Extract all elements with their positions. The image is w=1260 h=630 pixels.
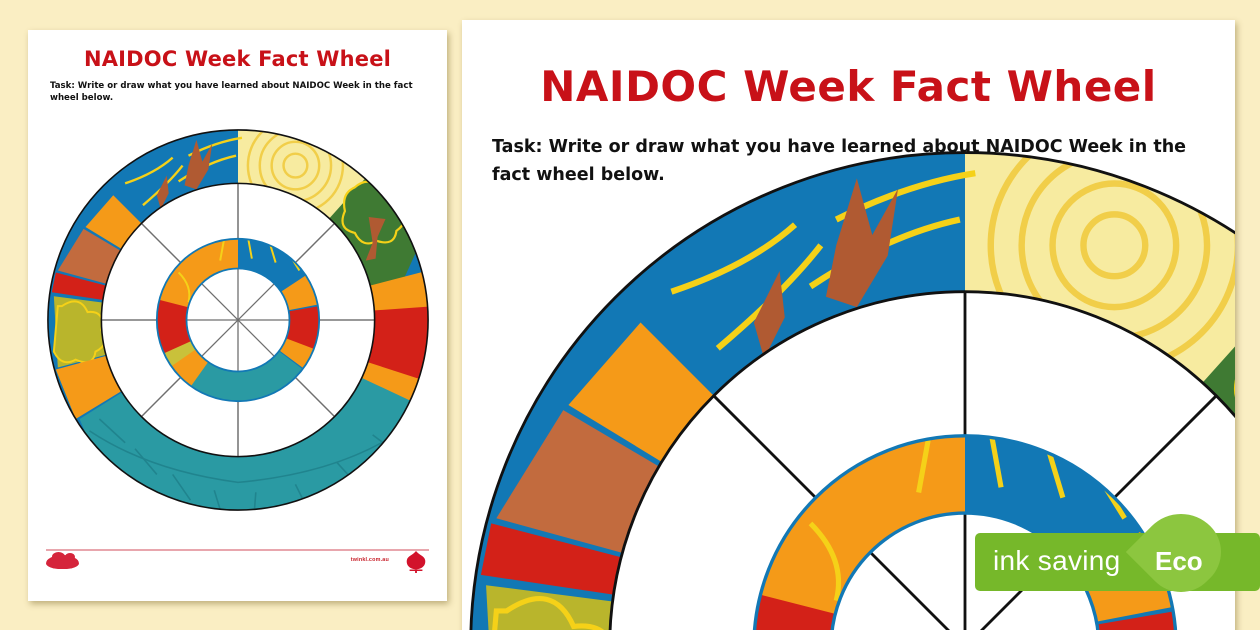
fact-wheel-thumbnail (40, 122, 436, 518)
footer-rule (46, 549, 429, 551)
page-title: NAIDOC Week Fact Wheel (28, 47, 447, 71)
footer-url-text: twinkl.com.au (351, 557, 389, 563)
page-title-large: NAIDOC Week Fact Wheel (462, 62, 1235, 111)
wheel-spokes-long (101, 183, 374, 456)
task-instruction: Task: Write or draw what you have learne… (50, 80, 425, 105)
page-footer: twinkl.com.au (46, 549, 429, 579)
twinkl-cloud-logo-icon (46, 555, 79, 569)
thumbnail-page[interactable]: NAIDOC Week Fact Wheel Task: Write or dr… (28, 30, 447, 601)
eco-badge-tag: Eco (1155, 546, 1203, 577)
ink-saving-eco-badge: ink saving Eco (975, 533, 1260, 591)
twinkl-leaf-logo-icon (405, 550, 427, 574)
eco-badge-label: ink saving (993, 545, 1121, 577)
